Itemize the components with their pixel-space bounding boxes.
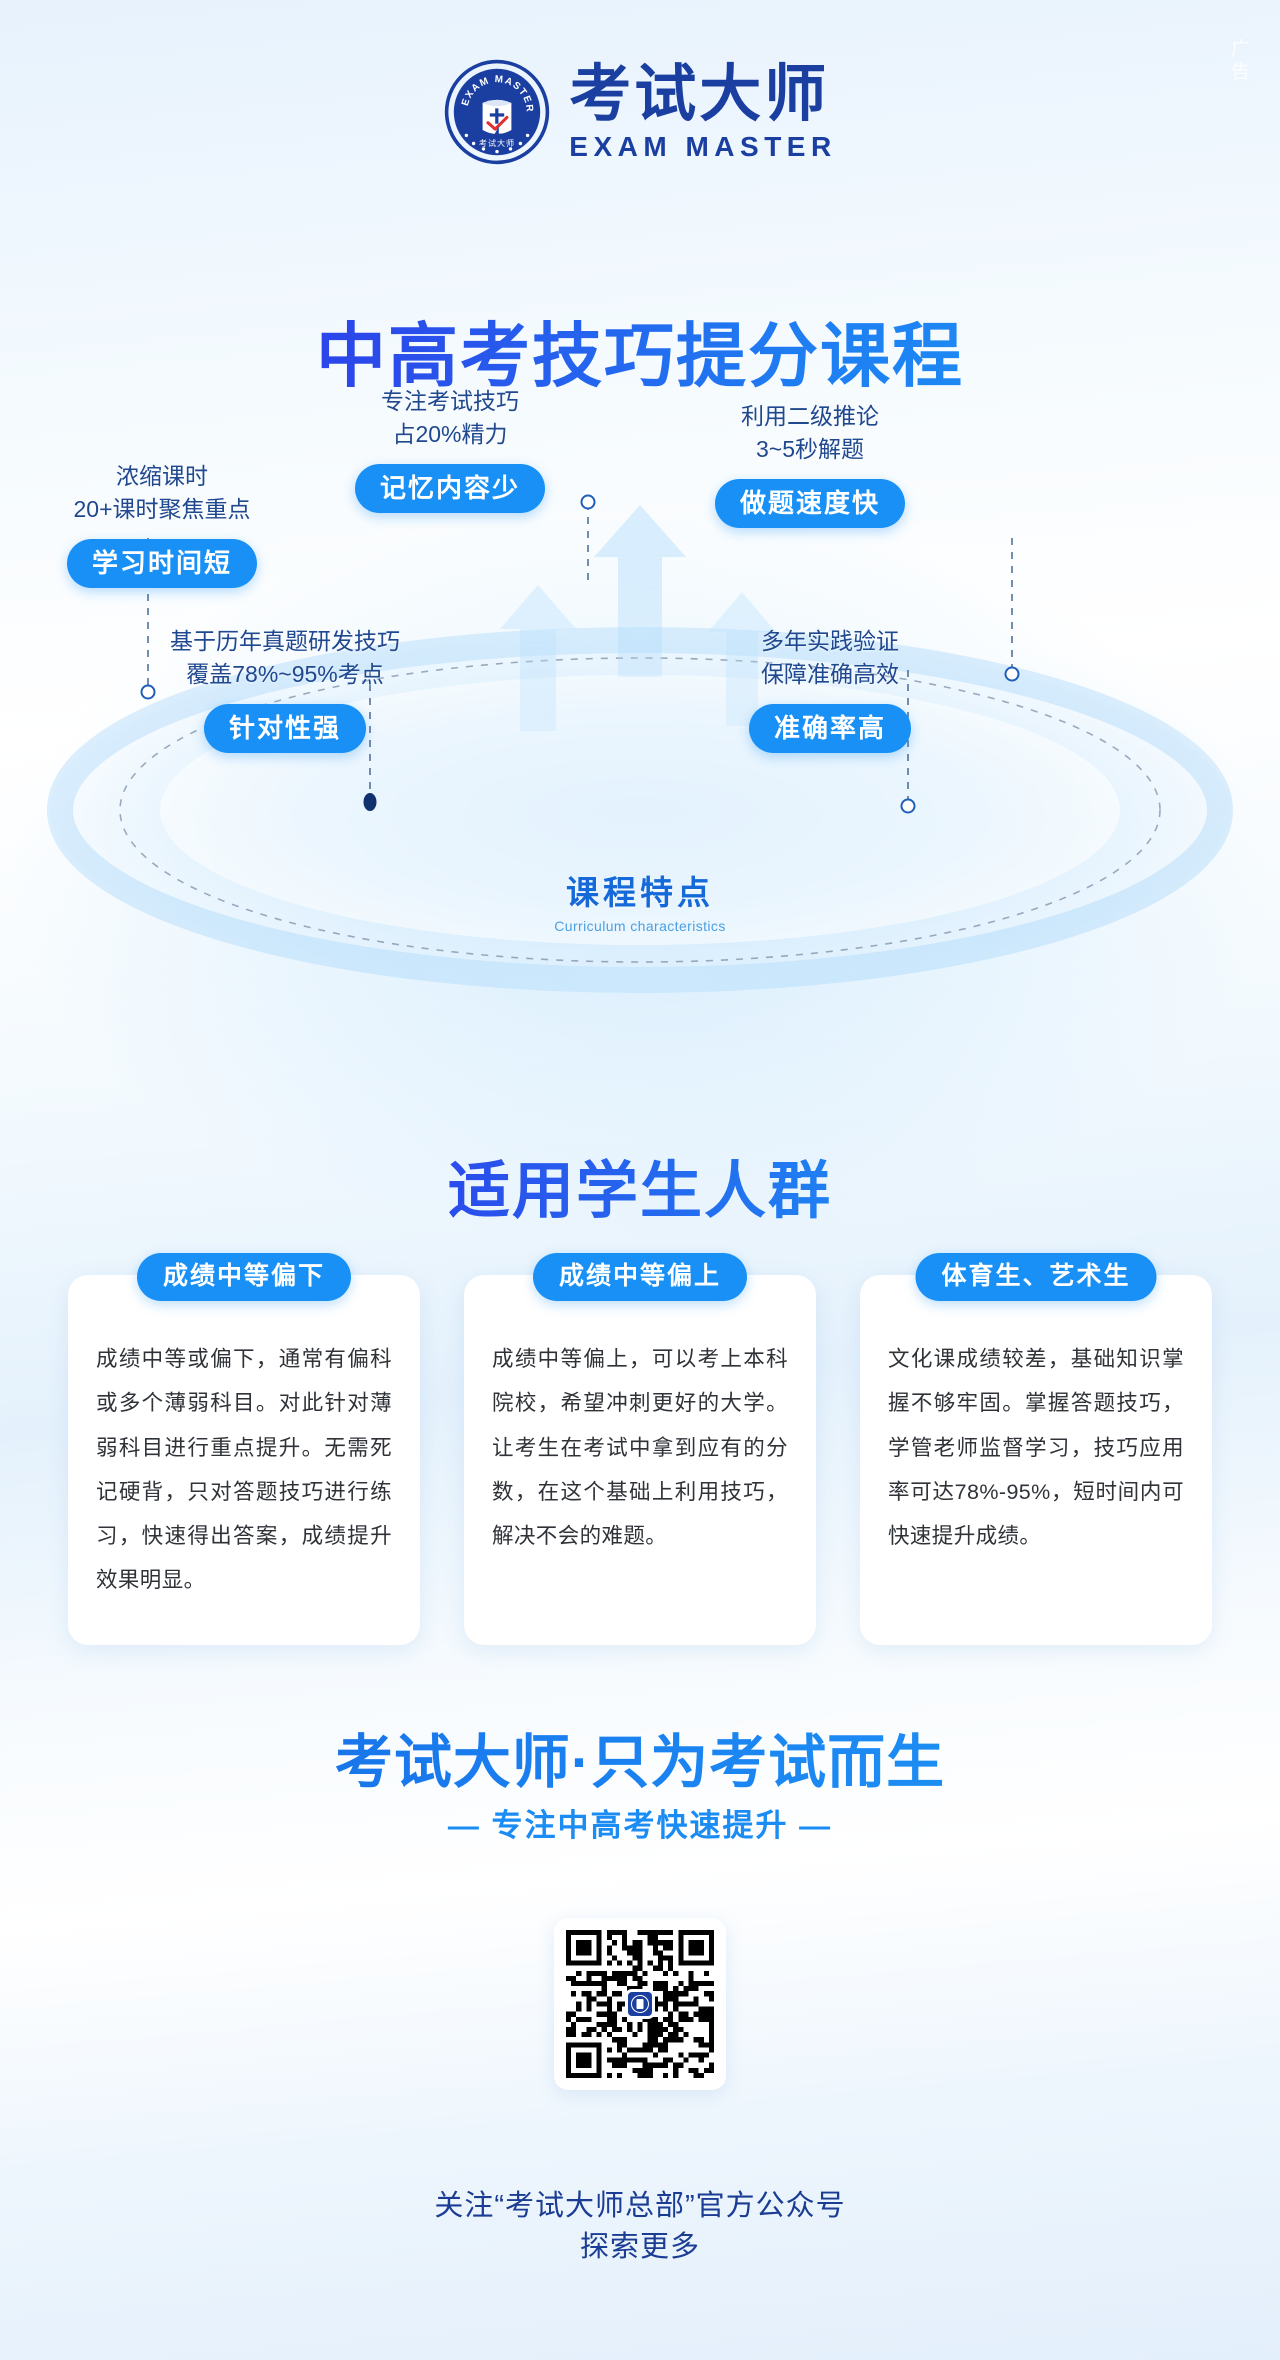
feature-pill[interactable]: 学习时间短 bbox=[67, 539, 257, 588]
brand-header: EXAM MASTER 考试大师 考试大师 EXAM MASTER bbox=[0, 58, 1280, 166]
qr-code[interactable] bbox=[554, 1918, 726, 2090]
qr-caption: 关注“考试大师总部”官方公众号 探索更多 bbox=[0, 2186, 1280, 2268]
qr-caption-line2: 探索更多 bbox=[580, 2231, 700, 2263]
audience-card[interactable]: 成绩中等偏下 成绩中等或偏下，通常有偏科或多个薄弱科目。对此针对薄弱科目进行重点… bbox=[68, 1275, 420, 1645]
audience-card-pill: 成绩中等偏上 bbox=[533, 1253, 747, 1301]
feature-item-study-time[interactable]: 浓缩课时 20+课时聚焦重点 学习时间短 bbox=[22, 460, 302, 588]
brand-name-cn: 考试大师 bbox=[569, 64, 829, 126]
feature-item-solve-speed[interactable]: 利用二级推论 3~5秒解题 做题速度快 bbox=[660, 400, 960, 528]
exam-master-seal-icon: EXAM MASTER 考试大师 bbox=[443, 58, 551, 166]
feature-desc: 专注考试技巧 占20%精力 bbox=[310, 385, 590, 450]
footer-slogan: 考试大师·只为考试而生 bbox=[0, 1715, 1280, 1799]
brand-name-en: EXAM MASTER bbox=[569, 133, 836, 161]
qr-caption-line1: 关注“考试大师总部”官方公众号 bbox=[434, 2190, 845, 2222]
audience-section-title: 适用学生人群 bbox=[0, 1140, 1280, 1230]
feature-desc: 基于历年真题研发技巧 覆盖78%~95%考点 bbox=[120, 625, 450, 690]
poster-root: 广告 EXAM MASTER 考试大师 考试大师 bbox=[0, 0, 1280, 2360]
feature-desc: 浓缩课时 20+课时聚焦重点 bbox=[22, 460, 302, 525]
footer-sub-slogan: — 专注中高考快速提升 — bbox=[0, 1800, 1280, 1845]
course-features-center-label: 课程特点 Curriculum characteristics bbox=[554, 875, 725, 934]
feature-pill[interactable]: 针对性强 bbox=[204, 704, 366, 753]
course-features-section: 课程特点 Curriculum characteristics 浓缩课时 20+… bbox=[0, 420, 1280, 1120]
feature-desc: 多年实践验证 保障准确高效 bbox=[680, 625, 980, 690]
feature-item-targeted[interactable]: 基于历年真题研发技巧 覆盖78%~95%考点 针对性强 bbox=[120, 625, 450, 753]
brand-wordmark: 考试大师 EXAM MASTER bbox=[569, 64, 836, 161]
audience-card-body: 成绩中等偏上，可以考上本科院校，希望冲刺更好的大学。让考生在考试中拿到应有的分数… bbox=[492, 1337, 788, 1558]
center-subtitle: Curriculum characteristics bbox=[554, 918, 725, 934]
svg-text:考试大师: 考试大师 bbox=[479, 138, 515, 148]
qr-center-logo-icon bbox=[625, 1989, 655, 2019]
feature-pill[interactable]: 做题速度快 bbox=[715, 479, 905, 528]
audience-card-pill: 成绩中等偏下 bbox=[137, 1253, 351, 1301]
page-title: 中高考技巧提分课程 bbox=[0, 300, 1280, 401]
audience-card-body: 文化课成绩较差，基础知识掌握不够牢固。掌握答题技巧，学管老师监督学习，技巧应用率… bbox=[888, 1337, 1184, 1558]
feature-item-memory-load[interactable]: 专注考试技巧 占20%精力 记忆内容少 bbox=[310, 385, 590, 513]
audience-card[interactable]: 体育生、艺术生 文化课成绩较差，基础知识掌握不够牢固。掌握答题技巧，学管老师监督… bbox=[860, 1275, 1212, 1645]
center-title: 课程特点 bbox=[554, 875, 725, 911]
audience-card-pill: 体育生、艺术生 bbox=[915, 1253, 1156, 1301]
feature-desc: 利用二级推论 3~5秒解题 bbox=[660, 400, 960, 465]
feature-pill[interactable]: 准确率高 bbox=[749, 704, 911, 753]
feature-pill[interactable]: 记忆内容少 bbox=[355, 464, 545, 513]
audience-cards: 成绩中等偏下 成绩中等或偏下，通常有偏科或多个薄弱科目。对此针对薄弱科目进行重点… bbox=[68, 1275, 1212, 1645]
audience-card[interactable]: 成绩中等偏上 成绩中等偏上，可以考上本科院校，希望冲刺更好的大学。让考生在考试中… bbox=[464, 1275, 816, 1645]
feature-item-accuracy[interactable]: 多年实践验证 保障准确高效 准确率高 bbox=[680, 625, 980, 753]
audience-card-body: 成绩中等或偏下，通常有偏科或多个薄弱科目。对此针对薄弱科目进行重点提升。无需死记… bbox=[96, 1337, 392, 1603]
